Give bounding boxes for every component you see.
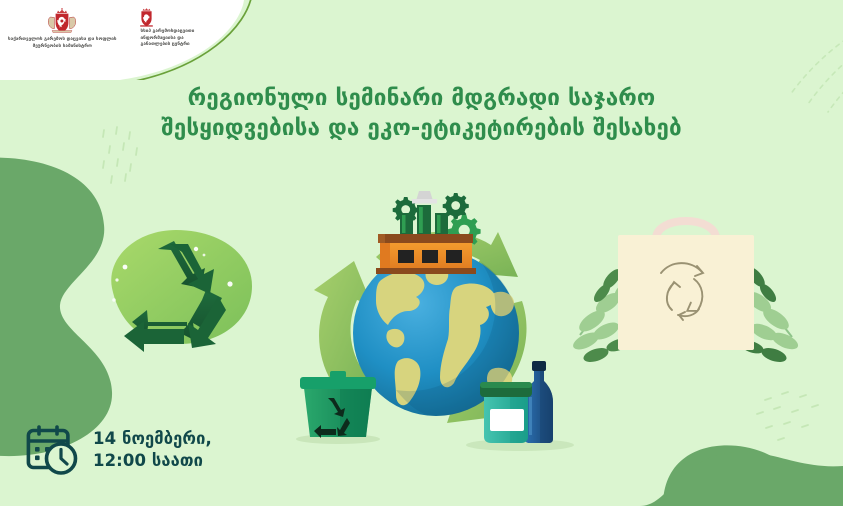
chimney bbox=[435, 213, 448, 235]
page-title: რეგიონული სემინარი მდგრადი საჯარო შესყიდ… bbox=[0, 84, 843, 143]
bin-lid bbox=[300, 377, 376, 389]
title-line-1: რეგიონული სემინარი მდგრადი საჯარო bbox=[0, 84, 843, 114]
event-date-block: 14 ნოემბერი, 12:00 საათი bbox=[26, 424, 212, 476]
glass-jar-icon bbox=[480, 382, 532, 443]
ministry-logo-text: საქართველოს გარემოს დაცვისა და სოფლის მე… bbox=[8, 37, 116, 50]
recycle-bin-icon bbox=[296, 371, 380, 444]
jar-label bbox=[490, 409, 524, 431]
title-line-2: შესყიდვებისა და ეკო-ეტიკეტირების შესახებ bbox=[0, 114, 843, 144]
center-logo-text: სსიპ გარემოსდაცვითი ინფორმაციისა და განა… bbox=[138, 29, 194, 49]
factory-base bbox=[376, 268, 476, 274]
environmental-information-center-logo: სსიპ გარემოსდაცვითი ინფორმაციისა და განა… bbox=[138, 8, 194, 49]
georgia-coat-of-arms-icon bbox=[47, 8, 77, 35]
event-date-line-1: 14 ნოემბერი, bbox=[93, 428, 212, 450]
factory-icon bbox=[376, 191, 481, 274]
georgia-coat-of-arms-small-icon bbox=[138, 8, 155, 27]
recycling-symbol-illustration bbox=[92, 222, 262, 358]
factory-roof bbox=[385, 234, 473, 243]
glass-bottle-icon bbox=[525, 361, 553, 443]
logo-bar: საქართველოს გარემოს დაცვისა და სოფლის მე… bbox=[8, 8, 194, 50]
factory-window bbox=[446, 250, 462, 263]
event-date-text: 14 ნოემბერი, 12:00 საათი bbox=[93, 428, 212, 472]
globe-recycling-illustration bbox=[288, 183, 584, 458]
eco-tote-bag-illustration bbox=[566, 205, 806, 377]
calendar-clock-icon bbox=[26, 424, 80, 476]
event-time-line-2: 12:00 საათი bbox=[93, 450, 212, 472]
ministry-of-environment-logo: საქართველოს გარემოს დაცვისა და სოფლის მე… bbox=[8, 8, 116, 50]
bottle-cap bbox=[532, 361, 546, 371]
poster-canvas: საქართველოს გარემოს დაცვისა და სოფლის მე… bbox=[0, 0, 843, 506]
factory-window bbox=[398, 250, 414, 263]
chimney bbox=[400, 213, 413, 235]
factory-window bbox=[422, 250, 438, 263]
